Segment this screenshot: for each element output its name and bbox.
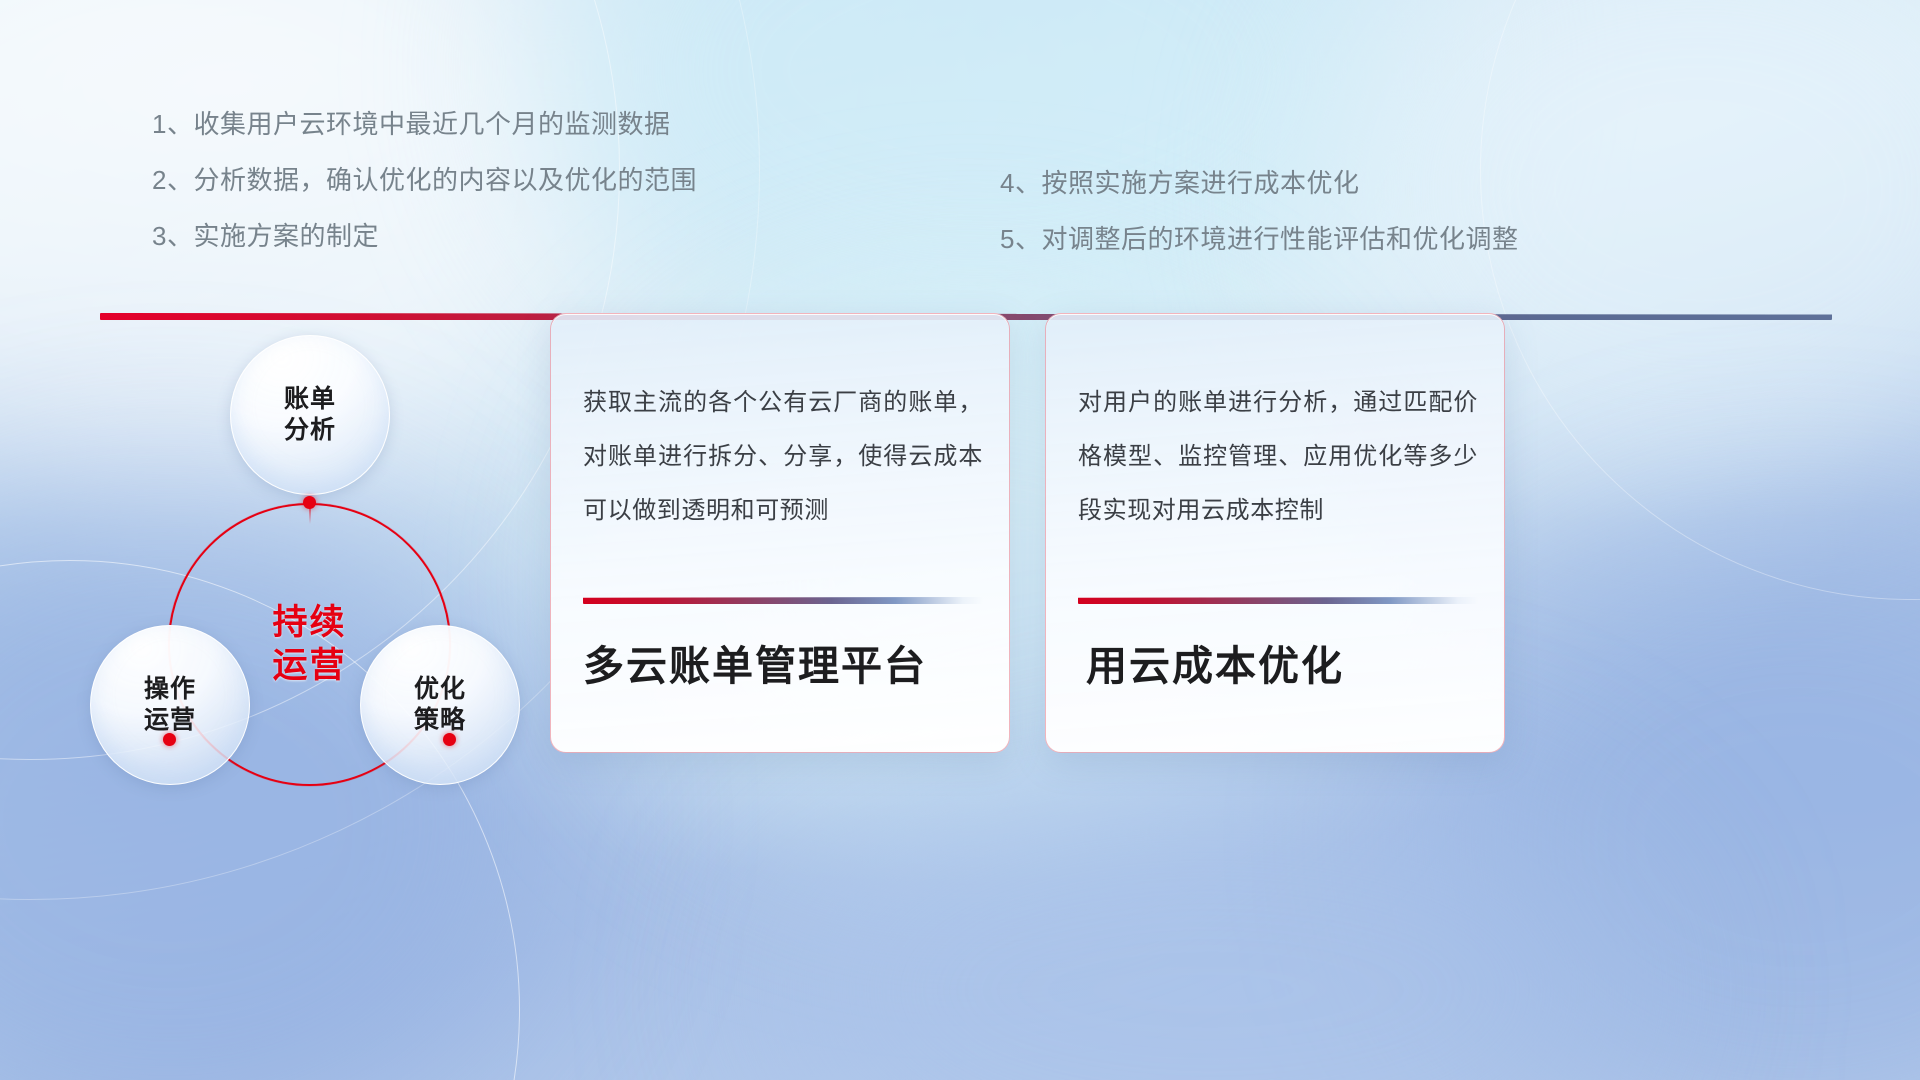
venn-diagram: 账单 分析 操作 运营 优化 策略 持续 运营 (95, 350, 545, 910)
steps-column-right: 4、按照实施方案进行成本优化 5、对调整后的环境进行性能评估和优化调整 (1000, 155, 1740, 267)
venn-node-dot-top (303, 496, 316, 509)
card-divider-bar (1078, 597, 1478, 604)
numbered-steps-list: 1、收集用户云环境中最近几个月的监测数据 2、分析数据，确认优化的内容以及优化的… (0, 0, 1920, 250)
venn-connector-top (309, 508, 311, 524)
card-body-text: 获取主流的各个公有云厂商的账单，对账单进行拆分、分享，使得云成本可以做到透明和可… (583, 376, 983, 538)
step-item-1: 1、收集用户云环境中最近几个月的监测数据 (152, 96, 832, 152)
card-divider-bar (583, 597, 983, 604)
card-multi-cloud-billing[interactable]: 获取主流的各个公有云厂商的账单，对账单进行拆分、分享，使得云成本可以做到透明和可… (550, 313, 1010, 753)
background-glow-bottom-center (760, 760, 1660, 1080)
step-item-3: 3、实施方案的制定 (152, 208, 832, 264)
step-item-5: 5、对调整后的环境进行性能评估和优化调整 (1000, 211, 1740, 267)
step-item-2: 2、分析数据，确认优化的内容以及优化的范围 (152, 152, 832, 208)
card-body-text: 对用户的账单进行分析，通过匹配价格模型、监控管理、应用优化等多少段实现对用云成本… (1078, 376, 1478, 538)
venn-node-dot-right (443, 733, 456, 746)
step-item-4: 4、按照实施方案进行成本优化 (1000, 155, 1740, 211)
slide-canvas: 1、收集用户云环境中最近几个月的监测数据 2、分析数据，确认优化的内容以及优化的… (0, 0, 1920, 1080)
venn-node-dot-left (163, 733, 176, 746)
venn-bubble-label: 账单 分析 (284, 384, 336, 447)
card-title: 用云成本优化 (1086, 642, 1478, 691)
card-title: 多云账单管理平台 (583, 642, 983, 691)
card-cloud-cost-optimization[interactable]: 对用户的账单进行分析，通过匹配价格模型、监控管理、应用优化等多少段实现对用云成本… (1045, 313, 1505, 753)
steps-column-left: 1、收集用户云环境中最近几个月的监测数据 2、分析数据，确认优化的内容以及优化的… (152, 96, 832, 264)
venn-bubble-bill-analysis[interactable]: 账单 分析 (230, 335, 390, 495)
venn-center-label: 持续 运营 (168, 503, 451, 786)
